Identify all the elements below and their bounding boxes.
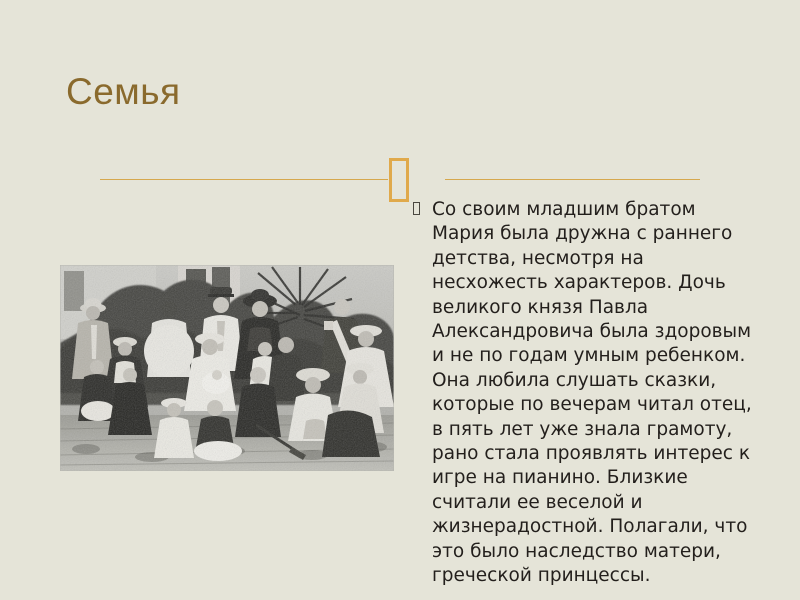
rectangle-outline-ornament-icon [389, 158, 409, 202]
body-paragraph: Со своим младшим братом Мария была дружн… [432, 198, 760, 589]
family-photograph-image [60, 265, 394, 471]
bullet-square-icon [413, 202, 420, 215]
bullet-list-item: Со своим младшим братом Мария была дружн… [410, 198, 760, 589]
page-title: Семья [66, 70, 181, 114]
body-content: Со своим младшим братом Мария была дружн… [410, 198, 760, 589]
divider-line-left [100, 179, 388, 180]
presentation-slide: Семья [0, 0, 800, 600]
family-photograph [60, 265, 394, 471]
divider-line-right [445, 179, 700, 180]
